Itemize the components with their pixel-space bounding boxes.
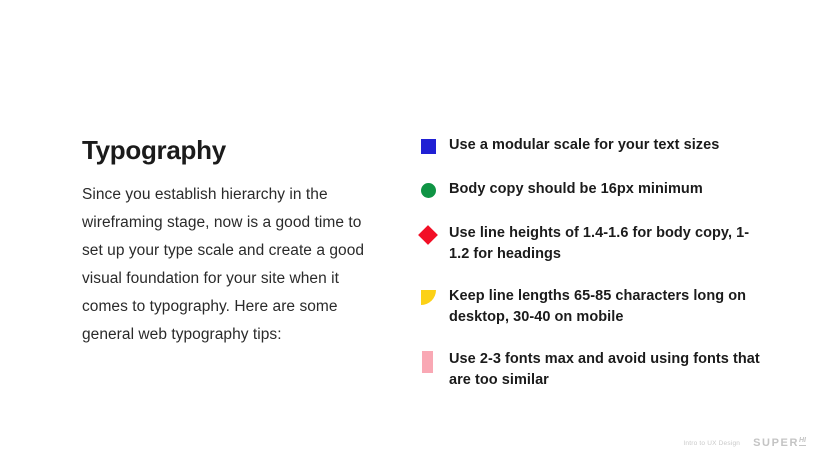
logo-hi-mark: HI	[799, 437, 806, 446]
list-item-label: Use a modular scale for your text sizes	[449, 135, 719, 156]
bullet-marker	[415, 350, 449, 372]
bullet-marker	[415, 224, 449, 246]
list-item: Body copy should be 16px minimum	[415, 179, 765, 202]
page-title: Typography	[82, 136, 367, 165]
list-item-label: Use 2-3 fonts max and avoid using fonts …	[449, 349, 765, 391]
list-item-label: Keep line lengths 65-85 characters long …	[449, 286, 765, 328]
slide-canvas: Typography Since you establish hierarchy…	[0, 0, 828, 466]
list-item: Keep line lengths 65-85 characters long …	[415, 286, 765, 328]
left-text-column: Typography Since you establish hierarchy…	[82, 136, 367, 349]
tips-list: Use a modular scale for your text sizes …	[415, 135, 765, 391]
intro-paragraph: Since you establish hierarchy in the wir…	[82, 181, 367, 349]
list-item: Use 2-3 fonts max and avoid using fonts …	[415, 349, 765, 391]
bullet-marker	[415, 180, 449, 202]
course-name-label: Intro to UX Design	[683, 440, 740, 447]
list-item-label: Use line heights of 1.4-1.6 for body cop…	[449, 223, 765, 265]
superhi-logo: SUPER HI	[753, 438, 806, 449]
green-circle-bullet-icon	[421, 183, 436, 198]
list-item: Use a modular scale for your text sizes	[415, 135, 765, 158]
bullet-marker	[415, 136, 449, 158]
slide-footer: Intro to UX Design SUPER HI	[683, 438, 806, 449]
pink-rectangle-bullet-icon	[422, 351, 433, 373]
logo-wordmark: SUPER	[753, 438, 799, 449]
list-item-label: Body copy should be 16px minimum	[449, 179, 703, 200]
yellow-quarter-circle-bullet-icon	[421, 290, 436, 305]
bullet-marker	[415, 287, 449, 309]
red-diamond-bullet-icon	[418, 225, 438, 245]
blue-square-bullet-icon	[421, 139, 436, 154]
list-item: Use line heights of 1.4-1.6 for body cop…	[415, 223, 765, 265]
